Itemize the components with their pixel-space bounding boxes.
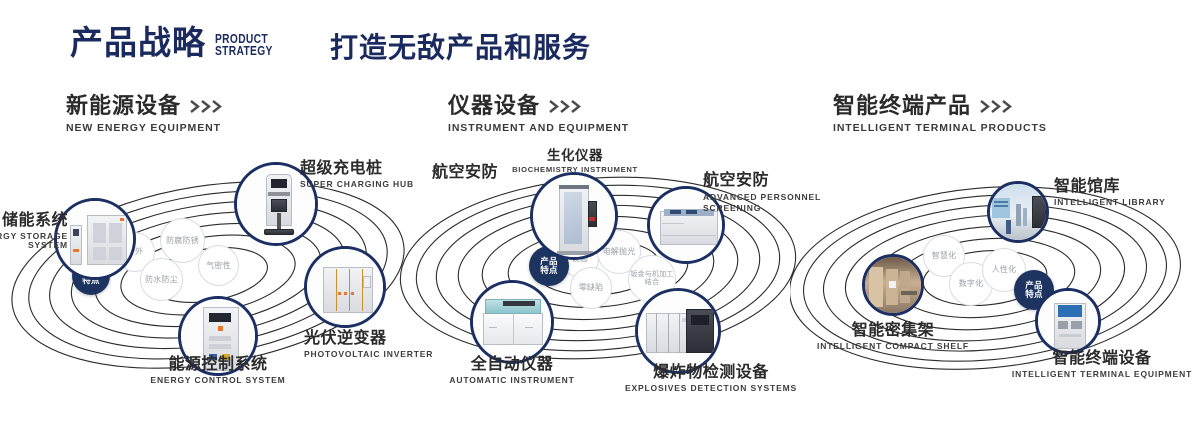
section-title-instrument-and-equipment: 仪器设备 INSTRUMENT AND EQUIPMENT bbox=[448, 94, 629, 134]
section-title-en: INSTRUMENT AND EQUIPMENT bbox=[448, 122, 629, 134]
node-biochemistry-instrument[interactable] bbox=[530, 172, 618, 260]
feature-bubble: 气密性 bbox=[198, 245, 239, 286]
section-title-new-energy-equipment: 新能源设备 NEW ENERGY EQUIPMENT bbox=[66, 94, 226, 134]
section-title-cn: 智能终端产品 bbox=[833, 94, 971, 118]
node-explosives-detection-systems[interactable] bbox=[635, 288, 721, 374]
chevrons-right-icon bbox=[980, 100, 1016, 113]
chevrons-right-icon bbox=[190, 100, 226, 113]
cluster-instrument-and-equipment: 镜面 电解抛光 钣金与机加工结合 零缺陷 产品特点 生化仪器 bbox=[398, 150, 798, 400]
section-title-en: NEW ENERGY EQUIPMENT bbox=[66, 122, 226, 134]
product-strategy-infographic: 产品战略 PRODUCT STRATEGY 打造无敌产品和服务 新能源设备 NE… bbox=[0, 0, 1200, 422]
page-header: 产品战略 PRODUCT STRATEGY bbox=[70, 26, 285, 59]
feature-bubble-label: 零缺陷 bbox=[579, 283, 604, 293]
node-automatic-instrument[interactable] bbox=[470, 280, 554, 364]
aux-label-aviation-security: 航空安防 bbox=[388, 164, 498, 182]
node-photovoltaic-inverter[interactable] bbox=[304, 246, 386, 328]
cluster-intelligent-terminal-products: 智慧化 数字化 人性化 产品特点 智能馆库 INTELLIGENT LIB bbox=[790, 150, 1190, 400]
section-title-cn: 仪器设备 bbox=[448, 94, 540, 118]
node-label-energy-storage-system: 储能系统 ENERGY STORAGE SYSTEM bbox=[0, 212, 68, 251]
center-badge-text: 产品特点 bbox=[540, 257, 558, 276]
node-label-intelligent-compact-shelf: 智能密集架 INTELLIGENT COMPACT SHELF bbox=[798, 322, 988, 351]
feature-bubble-label: 人性化 bbox=[992, 265, 1017, 275]
node-intelligent-terminal-equipment[interactable] bbox=[1035, 288, 1101, 354]
feature-bubble-label: 数字化 bbox=[959, 279, 984, 289]
feature-bubble: 防水防尘 bbox=[140, 258, 183, 301]
page-title: 产品战略 bbox=[70, 26, 206, 59]
node-label-intelligent-terminal-equipment: 智能终端设备 INTELLIGENT TERMINAL EQUIPMENT bbox=[1002, 350, 1200, 379]
chevrons-right-icon bbox=[549, 100, 585, 113]
node-intelligent-library[interactable] bbox=[987, 181, 1049, 243]
node-label-explosives-detection-systems: 爆炸物检测设备 EXPLOSIVES DETECTION SYSTEMS bbox=[616, 364, 806, 393]
node-label-automatic-instrument: 全自动仪器 AUTOMATIC INSTRUMENT bbox=[422, 356, 602, 385]
feature-bubble-label: 防水防尘 bbox=[145, 275, 178, 285]
section-title-intelligent-terminal-products: 智能终端产品 INTELLIGENT TERMINAL PRODUCTS bbox=[833, 94, 1047, 134]
cluster-new-energy-equipment: 防腐防锈 户外 防水防尘 气密性 产品特点 bbox=[8, 150, 408, 400]
section-title-en: INTELLIGENT TERMINAL PRODUCTS bbox=[833, 122, 1047, 134]
page-slogan: 打造无敌产品和服务 bbox=[330, 32, 591, 64]
node-label-energy-control-system: 能源控制系统 ENERGY CONTROL SYSTEM bbox=[98, 356, 338, 385]
feature-bubble: 防腐防锈 bbox=[160, 218, 205, 263]
feature-bubble-label: 钣金与机加工结合 bbox=[629, 271, 675, 288]
page-title-english-line2: STRATEGY bbox=[215, 45, 273, 57]
node-label-biochemistry-instrument: 生化仪器 BIOCHEMISTRY INSTRUMENT bbox=[510, 148, 640, 174]
page-title-english: PRODUCT STRATEGY bbox=[215, 33, 273, 57]
feature-bubble-label: 防腐防锈 bbox=[166, 236, 199, 246]
section-title-cn: 新能源设备 bbox=[66, 94, 181, 118]
feature-bubble-label: 智慧化 bbox=[932, 251, 957, 261]
feature-bubble-label: 气密性 bbox=[206, 261, 231, 271]
feature-bubble: 零缺陷 bbox=[570, 267, 612, 309]
node-label-intelligent-library: 智能馆库 INTELLIGENT LIBRARY bbox=[1054, 178, 1194, 207]
node-intelligent-compact-shelf[interactable] bbox=[862, 254, 924, 316]
